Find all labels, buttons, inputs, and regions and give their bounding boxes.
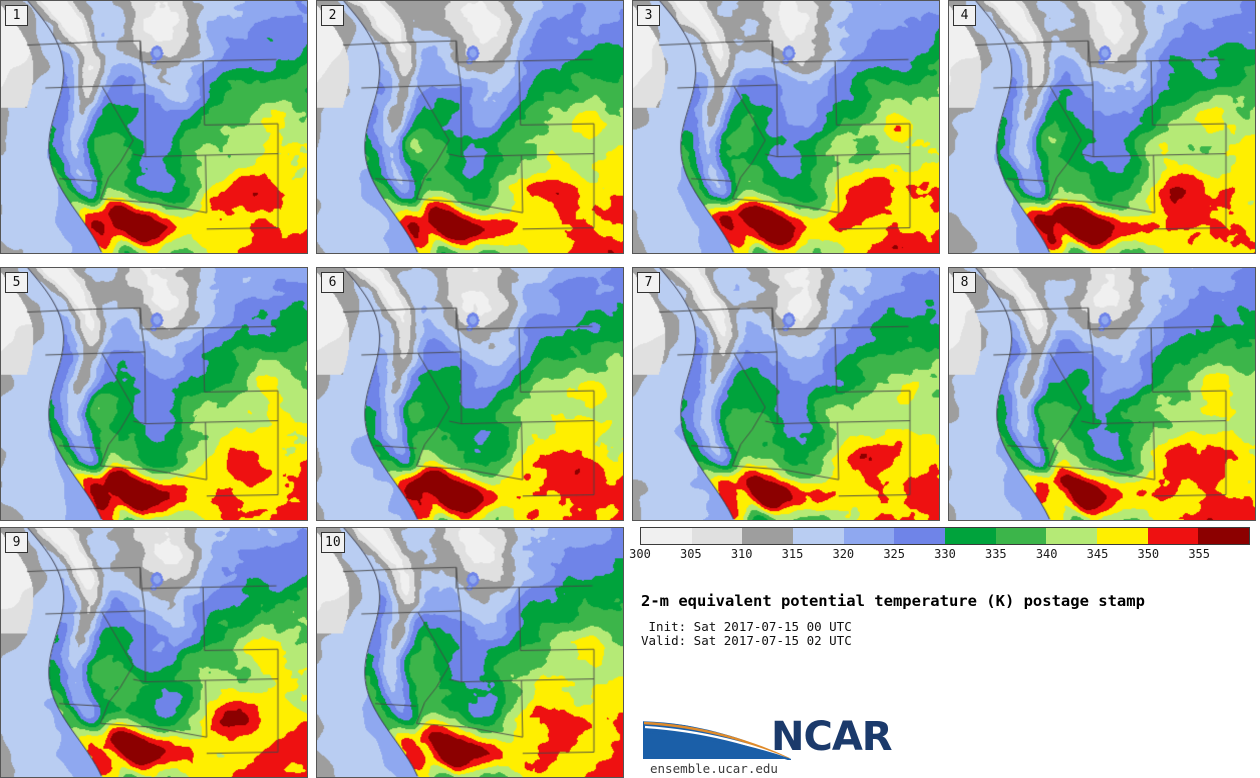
ensemble-member-panel-6[interactable]: 6	[316, 267, 624, 521]
member-number-badge-10: 10	[321, 532, 345, 553]
colorbar-tick-300: 300	[629, 547, 651, 561]
member-map-5	[1, 268, 307, 520]
colorbar-swatch-305-310	[692, 528, 743, 544]
colorbar-swatch-335-340	[996, 528, 1047, 544]
member-map-1	[1, 1, 307, 253]
member-number-badge-6: 6	[321, 272, 344, 293]
colorbar-swatch-310-315	[742, 528, 793, 544]
colorbar-swatch-345-350	[1097, 528, 1148, 544]
colorbar-swatch-330-335	[945, 528, 996, 544]
ensemble-member-panel-1[interactable]: 1	[0, 0, 308, 254]
member-map-6	[317, 268, 623, 520]
colorbar-swatch-315-320	[793, 528, 844, 544]
member-map-7	[633, 268, 939, 520]
colorbar-swatch-350-355	[1148, 528, 1199, 544]
ensemble-member-panel-4[interactable]: 4	[948, 0, 1256, 254]
member-number-badge-9: 9	[5, 532, 28, 553]
ncar-logo: NCAR ensemble.ucar.edu	[641, 714, 971, 776]
ensemble-member-panel-10[interactable]: 10	[316, 527, 624, 778]
member-map-3	[633, 1, 939, 253]
member-number-badge-8: 8	[953, 272, 976, 293]
member-number-badge-1: 1	[5, 5, 28, 26]
colorbar-swatch-355-360	[1198, 528, 1249, 544]
colorbar-tick-325: 325	[883, 547, 905, 561]
valid-time-line: Valid: Sat 2017-07-15 02 UTC	[641, 633, 852, 648]
ensemble-member-panel-3[interactable]: 3	[632, 0, 940, 254]
colorbar-tick-330: 330	[934, 547, 956, 561]
forecast-time-info: Init: Sat 2017-07-15 00 UTC Valid: Sat 2…	[641, 620, 852, 648]
ncar-wordmark: NCAR	[771, 716, 892, 758]
ensemble-member-panel-8[interactable]: 8	[948, 267, 1256, 521]
colorbar-swatch-320-325	[844, 528, 895, 544]
member-map-10	[317, 528, 623, 777]
colorbar-swatch-300-305	[641, 528, 692, 544]
member-map-2	[317, 1, 623, 253]
ensemble-member-panel-5[interactable]: 5	[0, 267, 308, 521]
colorbar-tick-340: 340	[1036, 547, 1058, 561]
colorbar-tick-315: 315	[782, 547, 804, 561]
colorbar-legend: 300305310315320325330335340345350355	[640, 527, 1250, 563]
colorbar-tick-310: 310	[731, 547, 753, 561]
colorbar-tick-335: 335	[985, 547, 1007, 561]
member-number-badge-2: 2	[321, 5, 344, 26]
colorbar-tick-320: 320	[832, 547, 854, 561]
page-title: 2-m equivalent potential temperature (K)…	[641, 592, 1145, 610]
colorbar-tick-345: 345	[1087, 547, 1109, 561]
member-number-badge-3: 3	[637, 5, 660, 26]
colorbar-tick-305: 305	[680, 547, 702, 561]
member-map-4	[949, 1, 1255, 253]
member-number-badge-4: 4	[953, 5, 976, 26]
member-map-9	[1, 528, 307, 777]
colorbar-swatch-325-330	[894, 528, 945, 544]
ensemble-member-panel-2[interactable]: 2	[316, 0, 624, 254]
ensemble-member-panel-7[interactable]: 7	[632, 267, 940, 521]
ncar-logo-mark-icon	[641, 714, 791, 760]
colorbar-swatches	[640, 527, 1250, 545]
member-number-badge-5: 5	[5, 272, 28, 293]
colorbar-tick-350: 350	[1137, 547, 1159, 561]
member-number-badge-7: 7	[637, 272, 660, 293]
ensemble-member-panel-9[interactable]: 9	[0, 527, 308, 778]
init-time-line: Init: Sat 2017-07-15 00 UTC	[641, 619, 852, 634]
ncar-url-label: ensemble.ucar.edu	[650, 761, 778, 776]
colorbar-swatch-340-345	[1046, 528, 1097, 544]
member-map-8	[949, 268, 1255, 520]
colorbar-tick-355: 355	[1188, 547, 1210, 561]
colorbar-tick-labels: 300305310315320325330335340345350355	[640, 547, 1250, 563]
